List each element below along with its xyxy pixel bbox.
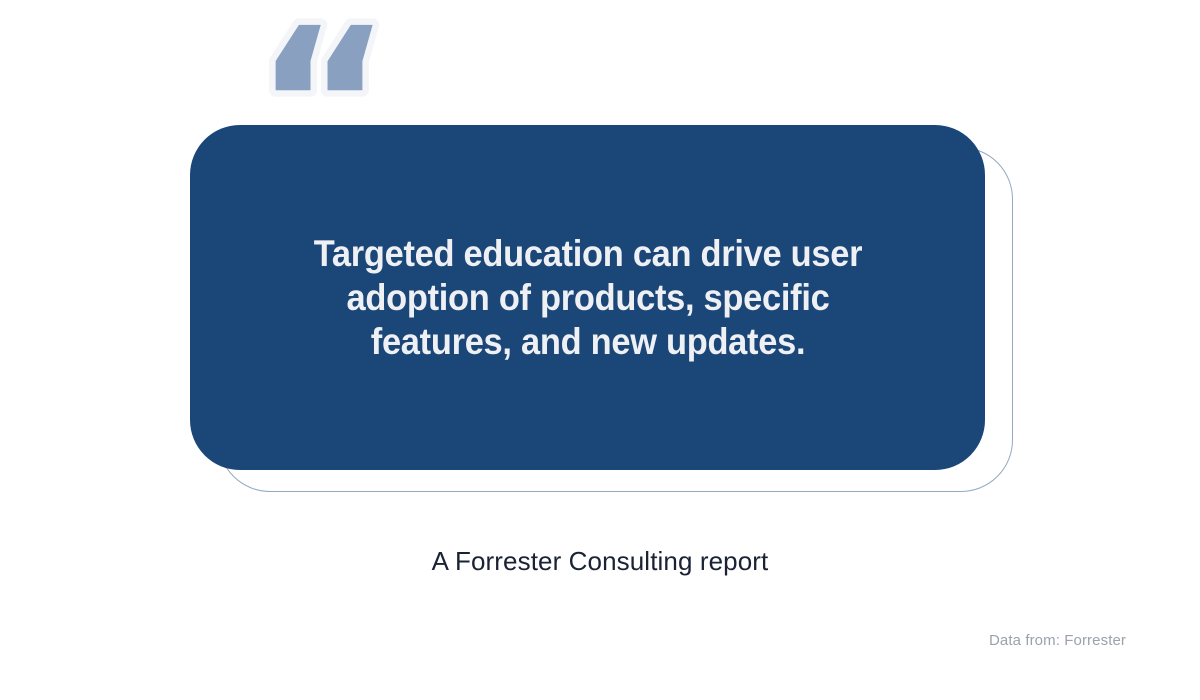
quote-text: Targeted education can drive user adopti… <box>262 232 913 364</box>
data-source-note: Data from: Forrester <box>989 630 1126 652</box>
caption-label: A Forrester Consulting report <box>0 543 1200 579</box>
quote-card: “ Targeted education can drive user adop… <box>190 125 985 470</box>
quotation-mark-glyph: “ <box>254 0 392 228</box>
quote-card-stack: “ Targeted education can drive user adop… <box>190 125 985 470</box>
quote-slide: “ Targeted education can drive user adop… <box>0 0 1200 700</box>
quotation-mark-icon: “ <box>252 10 402 190</box>
